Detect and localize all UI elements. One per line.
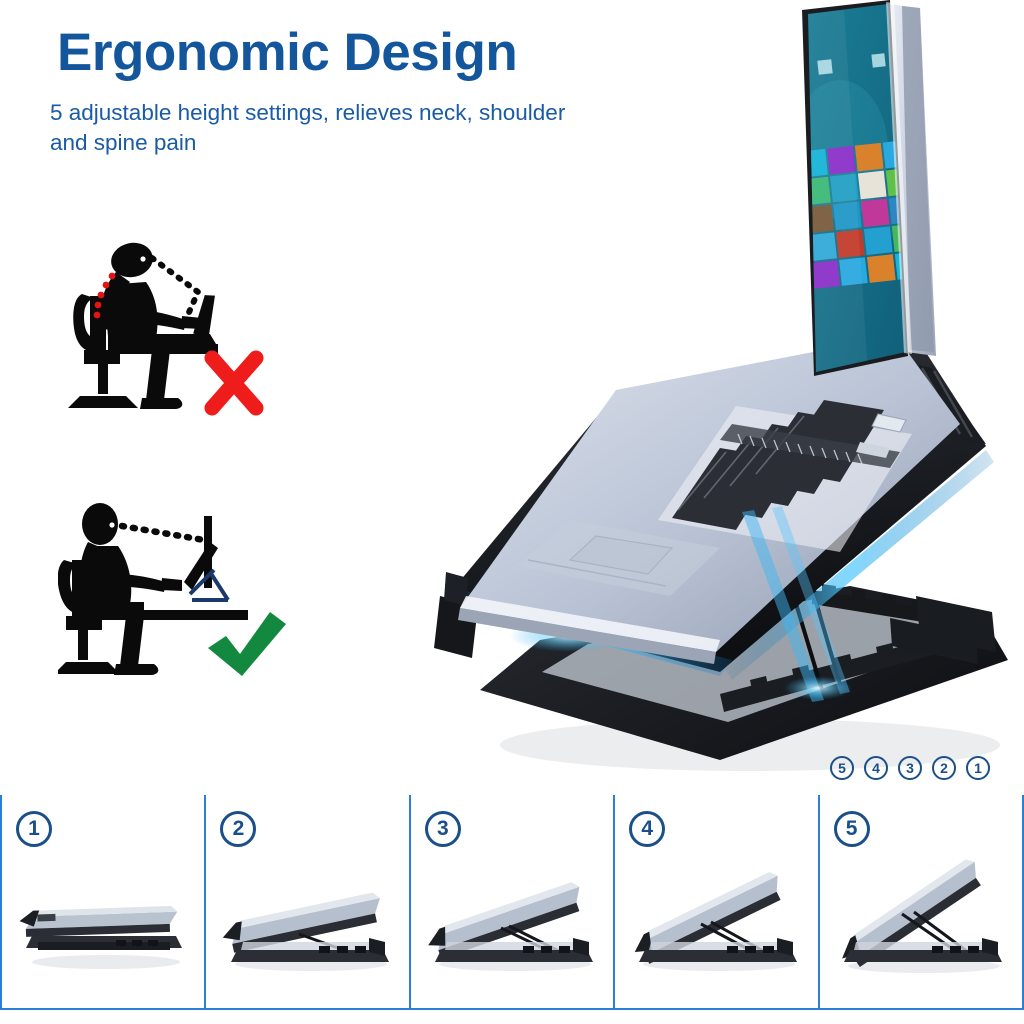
height-setting-cell-5: 5 xyxy=(820,795,1022,1008)
stand-photo-4 xyxy=(615,856,817,986)
marketing-image: Ergonomic Design 5 adjustable height set… xyxy=(0,0,1024,1024)
cell-number-4: 4 xyxy=(629,811,665,847)
height-marker-row: 5 4 3 2 1 xyxy=(830,756,990,782)
height-setting-cell-1: 1 xyxy=(2,795,206,1008)
good-posture-illustration xyxy=(58,490,338,700)
cell-number-1: 1 xyxy=(16,811,52,847)
height-setting-cell-3: 3 xyxy=(411,795,615,1008)
height-settings-panel: 1 xyxy=(0,795,1024,1010)
height-marker-1: 1 xyxy=(966,756,990,780)
check-icon xyxy=(208,612,286,676)
stand-photo-5 xyxy=(820,856,1022,986)
laptop-cooling-stand-photo xyxy=(420,0,1024,795)
stand-photo-1 xyxy=(2,856,204,986)
cell-number-2: 2 xyxy=(220,811,256,847)
stand-photo-3 xyxy=(411,856,613,986)
cell-number-3: 3 xyxy=(425,811,461,847)
height-marker-5: 5 xyxy=(830,756,854,780)
cross-icon xyxy=(212,358,256,408)
height-marker-2: 2 xyxy=(932,756,956,780)
cell-number-5: 5 xyxy=(834,811,870,847)
height-marker-3: 3 xyxy=(898,756,922,780)
height-setting-cell-4: 4 xyxy=(615,795,819,1008)
height-marker-4: 4 xyxy=(864,756,888,780)
height-setting-cell-2: 2 xyxy=(206,795,410,1008)
bad-posture-illustration xyxy=(60,232,320,432)
stand-photo-2 xyxy=(206,856,408,986)
